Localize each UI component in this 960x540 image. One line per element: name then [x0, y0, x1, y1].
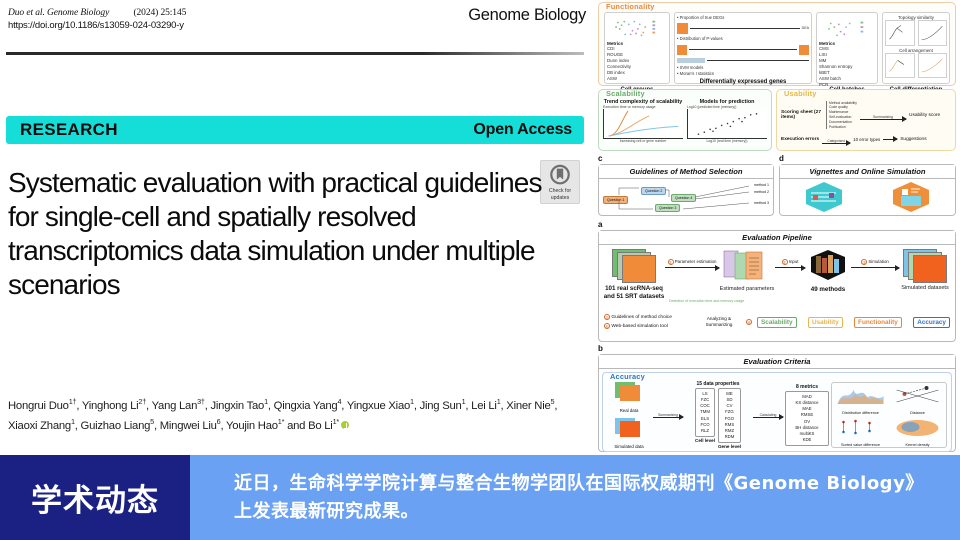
vignettes-hexagon-icon[interactable]: [802, 180, 846, 214]
step-3-number: ③: [861, 259, 867, 265]
page-title: Systematic evaluation with practical gui…: [8, 166, 548, 303]
open-access-label: Open Access: [473, 121, 572, 139]
step-input: ② Input: [775, 249, 805, 268]
citation-text: (2024) 25:145: [133, 8, 186, 18]
tag-usability[interactable]: Usability: [808, 317, 843, 328]
panel-a-title: Evaluation Pipeline: [599, 231, 955, 245]
panel-d: d Vignettes and Online Simulation: [779, 155, 956, 217]
usability-title: Usability: [784, 89, 817, 98]
scalability-panel: Scalability Trend complexity of scalabil…: [598, 89, 772, 151]
data-properties-group: 15 data properties LS FZC COC TMM ELS: [685, 381, 751, 450]
trajectory-cell: Topology similarity Cell arrangement: [882, 12, 950, 84]
panel-c-box: Guidelines of Method Selection Question …: [598, 164, 774, 216]
property-item: TMM: [699, 409, 711, 415]
step-2-label: Input: [789, 259, 799, 264]
pipeline-outputs: ⑤ Guidelines of method choice ⑥ Web-base…: [604, 313, 694, 331]
panel-a: a Evaluation Pipeline 101 real scRNA-seq…: [598, 221, 956, 342]
methods-label: 49 methods: [805, 286, 851, 293]
deg-bullet: • Moran's I statistics: [677, 71, 809, 77]
topology-plot-right: [918, 20, 948, 46]
property-item: RLZ: [699, 428, 711, 434]
online-simulation-hexagon-icon[interactable]: [889, 180, 933, 214]
tag-scalability[interactable]: Scalability: [757, 317, 797, 328]
deg-bullets: • Proportion of true DEGs DEA • Distribu…: [677, 15, 809, 77]
stage-simulated-datasets: Simulated datasets: [899, 249, 951, 291]
panel-d-title: Vignettes and Online Simulation: [780, 165, 955, 179]
thumb-sorted-value-difference: Sorted value difference: [833, 416, 888, 448]
deg-cell: • Proportion of true DEGs DEA • Distribu…: [674, 12, 812, 84]
simulated-data-icon: [614, 417, 644, 439]
step-6-label: Web-based simulation tool: [611, 324, 667, 329]
panel-d-letter: d: [779, 155, 956, 163]
real-datasets-icon: [612, 249, 656, 283]
properties-title: 15 data properties: [685, 381, 751, 387]
cell-groups-cell: Metrics CDI ROUGE Dunn index Connectivit…: [604, 12, 670, 84]
metrics-title: 8 metrics: [785, 384, 829, 390]
deg-bullet: • Distribution of P-values: [677, 36, 809, 42]
data-block-icon: [799, 45, 809, 55]
step-5-label: Guidelines of method choice: [611, 315, 672, 320]
cell-level-caption: Cell level: [695, 438, 715, 443]
journal-name: Genome Biology: [468, 6, 586, 25]
estimated-parameters-label: Estimated parameters: [719, 286, 775, 292]
deg-bullet: • Proportion of true DEGs: [677, 15, 809, 21]
real-data-label: Real data: [607, 408, 651, 413]
figure-montage: Functionality Metrics CDI: [594, 0, 960, 455]
step-5-number: ⑤: [604, 314, 610, 320]
step-1-label: Parameter estimation: [675, 259, 717, 264]
running-head-text: Duo et al. Genome Biology: [8, 8, 109, 18]
banner-text-block: 近日，生命科学学院计算与整合生物学团队在国际权威期刊《Genome Biolog…: [190, 455, 960, 540]
cell-batches-cell: Metrics CMS LISI MM Shannon entropy kBET…: [816, 12, 878, 84]
pvalue-bar-icon: [677, 58, 705, 63]
orcid-icon[interactable]: [341, 421, 349, 429]
suggestions-label: Suggestions: [900, 137, 926, 142]
property-item: RDM: [722, 434, 737, 440]
paper-first-page: Duo et al. Genome Biology (2024) 25:145 …: [0, 0, 594, 455]
scalability-plot-1: Trend complexity of scalability Executio…: [603, 99, 683, 149]
deg-caption: Differentially expressed genes: [677, 79, 809, 85]
panel-d-box: Vignettes and Online Simulation: [779, 164, 956, 216]
metric-item: PCR: [819, 82, 875, 88]
author-list: Hongrui Duo1†, Yinghong Li2†, Yang Lan3†…: [8, 396, 574, 437]
summarizing-arrow-icon: [860, 119, 906, 120]
thumb-caption: Kernel density: [890, 443, 945, 447]
arrangement-plot-left: [885, 53, 915, 78]
article-type-label: RESEARCH: [20, 120, 118, 140]
thumb-kernel-density: Kernel density: [890, 416, 945, 448]
metrics-group: 8 metrics MAD KS distance MAE RMSE OV BH…: [785, 384, 829, 447]
data-block-icon: [677, 45, 687, 55]
step-parameter-estimation: ① Parameter estimation: [665, 249, 719, 268]
panel-a-letter: a: [598, 221, 956, 229]
panel-b-letter: b: [598, 345, 956, 353]
scoring-sheet-label: Scoring sheet (27 items): [781, 110, 823, 120]
parameters-docs-icon: [722, 249, 772, 281]
step-4-label: Analyzing & Summarizing: [697, 316, 741, 328]
panel-b: b Evaluation Criteria Accuracy Real data: [598, 345, 956, 452]
methods-hexagon-icon: [808, 249, 848, 281]
scalability-plot-2: Models for prediction Log10 (predicted t…: [687, 99, 767, 149]
header-divider: [6, 52, 584, 55]
step-simulation: ③ Simulation: [851, 249, 899, 268]
categorized-arrow-icon: [822, 143, 850, 144]
panel-c: c Guidelines of Method Selection Questio…: [598, 155, 774, 217]
stage-methods: 49 methods: [805, 249, 851, 293]
simulated-datasets-label: Simulated datasets: [899, 285, 951, 291]
usability-panel: Usability Scoring sheet (27 items) Metho…: [776, 89, 956, 151]
criteria-tag-row: Scalability Usability Functionality Accu…: [757, 317, 950, 328]
scalability-plot-1-axes: [603, 109, 683, 139]
news-banner: 学术动态 近日，生命科学学院计算与整合生物学团队在国际权威期刊《Genome B…: [0, 455, 960, 540]
crossmark-line1: Check for: [549, 188, 571, 194]
banner-text: 近日，生命科学学院计算与整合生物学团队在国际权威期刊《Genome Biolog…: [234, 470, 934, 526]
thumb-caption: Distance: [890, 411, 945, 415]
research-open-access-bar: RESEARCH Open Access: [6, 116, 584, 144]
simulated-datasets-icon: [903, 249, 947, 283]
output-guidelines: ⑤ Guidelines of method choice: [604, 313, 694, 322]
scoring-item: Publication: [829, 125, 857, 130]
metric-item: ASW: [607, 76, 667, 82]
panel-a-box: Evaluation Pipeline 101 real scRNA-seq a…: [598, 230, 956, 342]
step-6-number: ⑥: [604, 323, 610, 329]
accuracy-title: Accuracy: [610, 372, 645, 381]
cell-batches-scatter: [819, 15, 875, 41]
scalability-plot-1-xlabel: Increasing cell or gene number: [603, 139, 683, 143]
suggestions-arrow-icon: [883, 139, 897, 140]
cell-groups-scatter: [607, 15, 667, 41]
accuracy-inputs: Real data Simulated data: [607, 381, 651, 449]
functionality-panel: Functionality Metrics CDI: [598, 2, 956, 86]
gene-level-list: ME SD CV FZG FGO RMS RMZ RDM: [718, 388, 741, 444]
metric-item: KDE: [789, 437, 825, 443]
step-1-number: ①: [668, 259, 674, 265]
panel-c-title: Guidelines of Method Selection: [599, 165, 773, 179]
tag-functionality[interactable]: Functionality: [854, 317, 902, 328]
cell-level-list: LS FZC COC TMM ELS FCO RLZ: [695, 388, 715, 438]
panel-b-title: Evaluation Criteria: [599, 355, 955, 369]
crossmark-line2: updates: [551, 195, 569, 201]
stage-estimated-parameters: Estimated parameters: [719, 249, 775, 292]
author-line-1: Hongrui Duo1†, Yinghong Li2†, Yang Lan3†…: [8, 400, 503, 412]
scoring-items-list: Method availability Code quality Mainten…: [826, 101, 857, 130]
panel-b-box: Evaluation Criteria Accuracy Real data: [598, 354, 956, 452]
output-webtool: ⑥ Web-based simulation tool: [604, 322, 694, 331]
real-data-icon: [614, 381, 644, 403]
cell-groups-metrics-list: CDI ROUGE Dunn index Connectivity DB ind…: [607, 46, 667, 82]
step-4-number: ④: [746, 319, 752, 325]
simulated-data-label: Simulated data: [607, 444, 651, 449]
crossmark-icon: [549, 164, 571, 187]
accuracy-subpanel: Accuracy Real data Simulated data: [602, 372, 952, 452]
usability-score-label: Usability score: [909, 113, 951, 118]
banner-tag-label: 学术动态: [31, 475, 159, 520]
thumbnails-group: Distribution difference Distance: [831, 382, 947, 448]
scalability-title: Scalability: [606, 89, 645, 98]
scalability-plot-2-xlabel: Log10 (real time (memory)): [687, 139, 767, 143]
execution-errors-label: Execution errors: [781, 137, 819, 142]
real-datasets-label: 101 real scRNA-seq and 51 SRT datasets: [603, 285, 665, 301]
panel-c-letter: c: [598, 155, 774, 163]
thumb-caption: Sorted value difference: [833, 443, 888, 447]
tag-accuracy[interactable]: Accuracy: [913, 317, 950, 328]
functionality-title: Functionality: [606, 2, 655, 11]
thumb-distribution-difference: Distribution difference: [833, 384, 888, 416]
screenshot-root: Duo et al. Genome Biology (2024) 25:145 …: [0, 0, 960, 540]
thumb-distance: Distance: [890, 384, 945, 416]
banner-tag-block: 学术动态: [0, 455, 190, 540]
crossmark-caption: Check for updates: [549, 188, 571, 201]
data-block-icon: [677, 23, 688, 34]
arrangement-plot-right: [918, 53, 948, 78]
step-3-label: Simulation: [868, 259, 889, 264]
thumb-caption: Distribution difference: [833, 411, 888, 415]
scalability-plot-2-axes: [687, 109, 767, 139]
topology-plot-left: [885, 20, 915, 46]
stage-real-datasets: 101 real scRNA-seq and 51 SRT datasets: [603, 249, 665, 301]
gene-level-caption: Gene level: [718, 444, 741, 449]
cell-batches-metrics-list: CMS LISI MM Shannon entropy kBET ASW bat…: [819, 46, 875, 88]
metrics-list: MAD KS distance MAE RMSE OV BH distance …: [785, 391, 829, 447]
step-2-number: ②: [782, 259, 788, 265]
error-types-label: 10 error types: [853, 137, 880, 142]
